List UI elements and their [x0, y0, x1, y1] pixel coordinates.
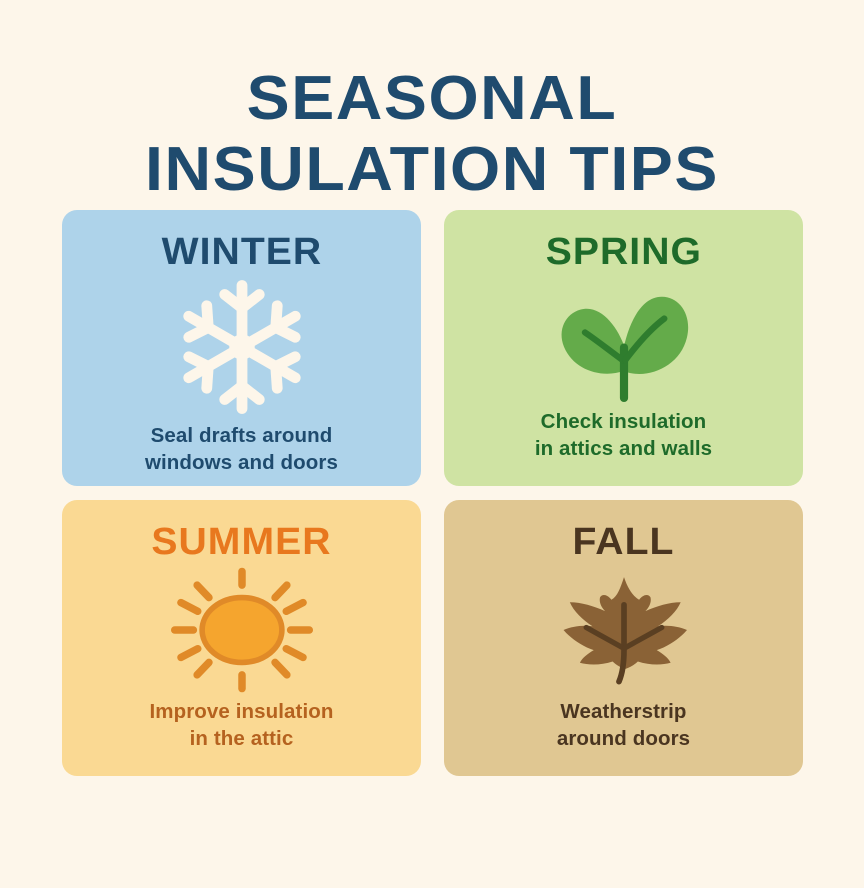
season-card-spring: SPRING — [444, 210, 803, 486]
page-title-line-1: SEASONAL — [0, 68, 864, 130]
season-card-summer-tip: Improve insulation in the attic — [131, 698, 351, 776]
season-card-spring-tip: Check insulation in attics and walls — [517, 408, 730, 486]
season-card-winter: WINTER — [62, 210, 421, 486]
page-title-line-2: INSULATION TIPS — [0, 139, 864, 201]
season-card-summer-tip-line-2: in the attic — [190, 727, 294, 750]
seasonal-cards-grid: WINTER — [62, 210, 803, 776]
season-card-winter-tip-line-2: windows and doors — [145, 451, 338, 474]
season-card-fall-title: FALL — [573, 522, 675, 562]
season-card-fall-tip-line-1: Weatherstrip — [560, 700, 686, 723]
season-card-winter-tip: Seal drafts around windows and doors — [127, 422, 356, 486]
season-card-spring-tip-line-2: in attics and walls — [535, 437, 712, 460]
season-card-summer: SUMMER — [62, 500, 421, 776]
season-card-spring-tip-line-1: Check insulation — [541, 410, 707, 433]
season-card-summer-icon-wrap — [62, 562, 421, 698]
season-card-spring-title: SPRING — [545, 232, 701, 272]
season-card-winter-tip-line-1: Seal drafts around — [151, 424, 333, 447]
snowflake-icon — [167, 272, 317, 422]
season-card-summer-tip-line-1: Improve insulation — [149, 700, 333, 723]
season-card-fall: FALL Weatherstrip a — [444, 500, 803, 776]
sprout-icon — [548, 277, 700, 403]
sun-icon — [161, 567, 323, 693]
season-card-winter-title: WINTER — [161, 232, 322, 272]
season-card-summer-title: SUMMER — [151, 522, 331, 562]
season-card-spring-icon-wrap — [444, 272, 803, 408]
infographic-poster: SEASONAL INSULATION TIPS WINTER — [0, 0, 864, 888]
page-title: SEASONAL INSULATION TIPS — [0, 68, 864, 201]
maple-leaf-icon — [548, 567, 700, 693]
season-card-winter-icon-wrap — [62, 272, 421, 422]
season-card-fall-tip-line-2: around doors — [557, 727, 690, 750]
season-card-fall-icon-wrap — [444, 562, 803, 698]
season-card-fall-tip: Weatherstrip around doors — [539, 698, 708, 776]
